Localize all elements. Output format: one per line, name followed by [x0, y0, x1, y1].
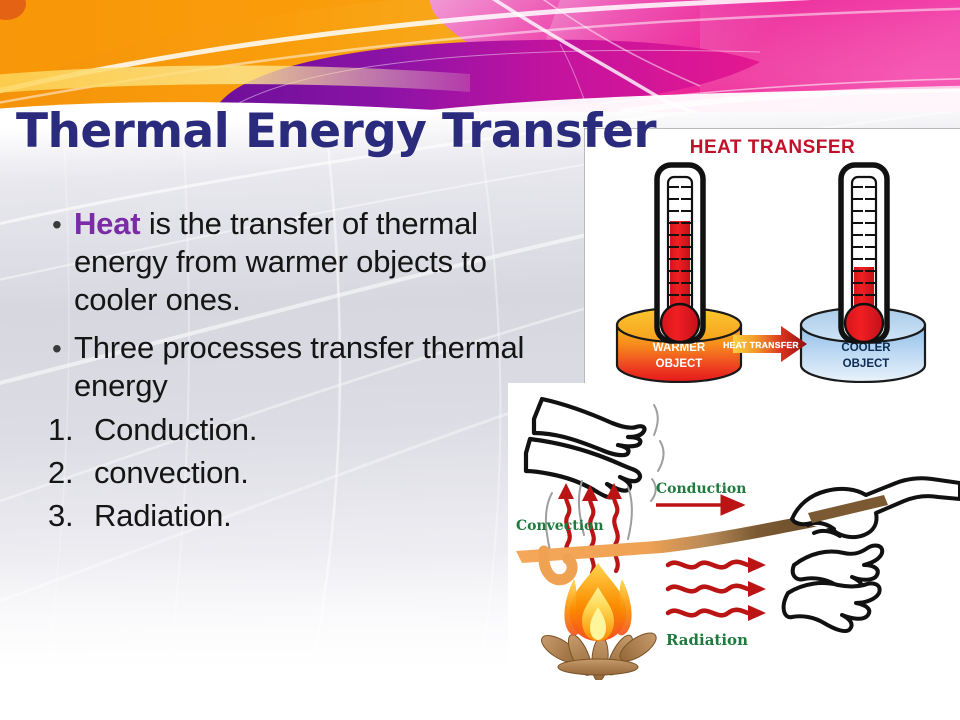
heat-transfer-diagram-art: WARMER OBJECT: [585, 129, 960, 396]
radiation-arrows: [668, 562, 748, 615]
slide-canvas: Thermal Energy Transfer • Heat is the tr…: [0, 0, 960, 720]
warmer-object-label-line2: OBJECT: [656, 358, 703, 370]
cooler-object-label-line1: COOLER: [841, 342, 891, 354]
heat-transfer-arrow-label: HEAT TRANSFER: [723, 340, 799, 350]
warming-hands-illustration: [784, 546, 883, 632]
bullet-text: Heat is the transfer of thermal energy f…: [74, 205, 548, 319]
list-item-number: 3.: [48, 498, 94, 534]
cooler-object-label-line2: OBJECT: [843, 358, 890, 370]
hands-over-fire-illustration: [526, 399, 645, 497]
radiation-arrow-heads: [748, 557, 766, 621]
bullet-text: Three processes transfer thermal energy: [74, 329, 548, 405]
radiation-label: Radiation: [666, 631, 748, 649]
list-item-number: 1.: [48, 412, 94, 448]
list-item-label: Radiation.: [94, 498, 232, 534]
list-item-label: Conduction.: [94, 412, 257, 448]
bullet-item: • Heat is the transfer of thermal energy…: [48, 205, 548, 319]
conduction-label: Conduction: [656, 481, 746, 497]
slide-body-content: • Heat is the transfer of thermal energy…: [48, 205, 548, 534]
banner-artwork: [0, 0, 960, 112]
bullet-marker-icon: •: [48, 205, 74, 245]
bullet-item: • Three processes transfer thermal energ…: [48, 329, 548, 405]
list-item: 2. convection.: [48, 455, 548, 491]
list-item-label: convection.: [94, 455, 249, 491]
list-item: 3. Radiation.: [48, 498, 548, 534]
slide-title: Thermal Energy Transfer: [16, 104, 656, 159]
keyword-heat: Heat: [74, 206, 140, 241]
bullet-marker-icon: •: [48, 329, 74, 369]
thermal-processes-diagram-art: Convection Conduction: [508, 383, 960, 680]
heat-transfer-figure: HEAT TRANSFER: [584, 128, 960, 396]
thermal-processes-figure: Convection Conduction: [508, 383, 960, 680]
convection-label: Convection: [516, 518, 604, 534]
warmer-object-label-line1: WARMER: [653, 342, 706, 354]
decorative-header-banner: [0, 0, 960, 112]
list-item: 1. Conduction.: [48, 412, 548, 448]
list-item-number: 2.: [48, 455, 94, 491]
numbered-list: 1. Conduction. 2. convection. 3. Radiati…: [48, 412, 548, 534]
